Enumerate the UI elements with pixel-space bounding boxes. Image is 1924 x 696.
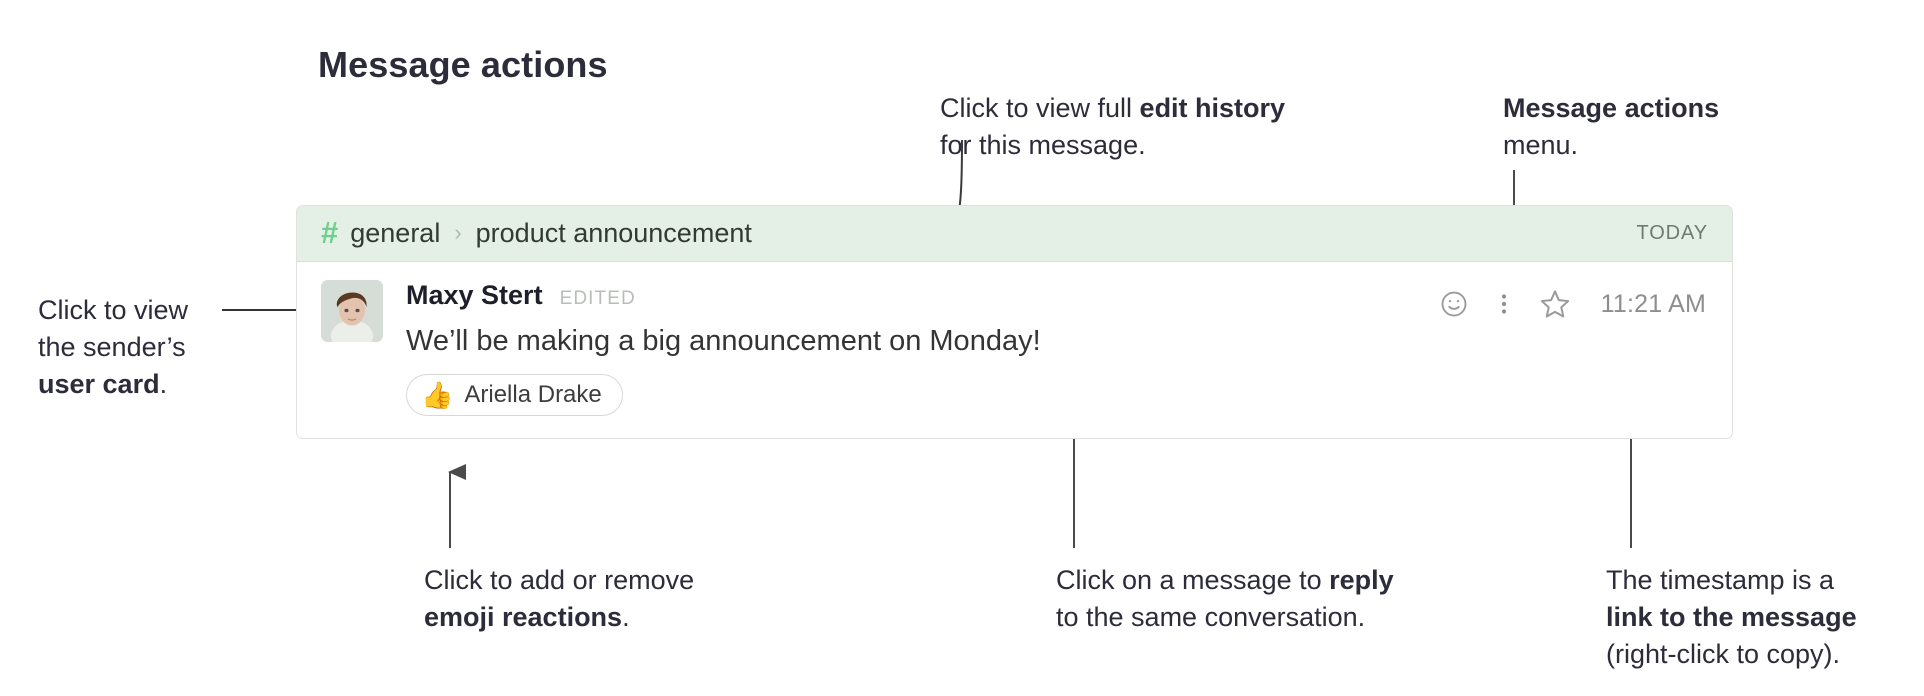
message-card: # general › product announcement TODAY M…: [296, 205, 1733, 439]
annotation-timestamp-line3: (right-click to copy).: [1606, 636, 1857, 673]
message-timestamp-link[interactable]: 11:21 AM: [1601, 290, 1706, 319]
annotation-timestamp-link: The timestamp is a link to the message (…: [1606, 562, 1857, 673]
emoji-reaction-icon[interactable]: [1439, 289, 1469, 319]
page-title: Message actions: [318, 44, 608, 86]
message-actions-icon[interactable]: [1493, 289, 1515, 319]
message-text[interactable]: We’ll be making a big announcement on Mo…: [406, 322, 1708, 360]
sender-name[interactable]: Maxy Stert: [406, 280, 543, 311]
stream-topic-header: # general › product announcement TODAY: [297, 206, 1732, 262]
chevron-right-icon: ›: [454, 220, 461, 246]
annotation-reply-line2: to the same conversation.: [1056, 599, 1394, 636]
annotation-edit-history-line2: for this message.: [940, 127, 1285, 164]
message-row[interactable]: Maxy Stert EDITED We’ll be making a big …: [297, 262, 1732, 438]
reactions-row: 👍 Ariella Drake: [406, 374, 1708, 416]
annotation-reply: Click on a message to reply to the same …: [1056, 562, 1394, 636]
date-label: TODAY: [1636, 222, 1708, 245]
annotation-actions-menu-bold: Message actions: [1503, 93, 1719, 123]
annotation-edit-history-line1-pre: Click to view full: [940, 93, 1140, 123]
annotation-emoji-line1: Click to add or remove: [424, 562, 694, 599]
thumbs-up-icon: 👍: [421, 382, 453, 408]
annotation-user-card: Click to view the sender’s user card.: [38, 292, 188, 403]
annotation-user-card-line1: Click to view: [38, 292, 188, 329]
annotation-emoji-period: .: [622, 602, 630, 632]
hash-icon: #: [321, 217, 338, 248]
annotation-actions-menu-line2: menu.: [1503, 127, 1719, 164]
annotation-user-card-bold: user card: [38, 369, 160, 399]
annotation-user-card-line2: the sender’s: [38, 329, 188, 366]
annotation-emoji-reactions: Click to add or remove emoji reactions.: [424, 562, 694, 636]
annotation-reply-bold: reply: [1329, 565, 1394, 595]
edited-label[interactable]: EDITED: [560, 288, 636, 310]
message-controls: 11:21 AM: [1439, 288, 1706, 320]
reaction-pill[interactable]: 👍 Ariella Drake: [406, 374, 623, 416]
stream-name-link[interactable]: general: [350, 218, 440, 249]
annotation-edit-history-bold: edit history: [1140, 93, 1286, 123]
annotation-emoji-bold: emoji reactions: [424, 602, 622, 632]
avatar[interactable]: [321, 280, 383, 342]
annotation-user-card-period: .: [160, 369, 168, 399]
annotation-edit-history: Click to view full edit history for this…: [940, 90, 1285, 164]
annotation-timestamp-line1: The timestamp is a: [1606, 562, 1857, 599]
annotation-reply-line1-pre: Click on a message to: [1056, 565, 1329, 595]
reaction-user-label: Ariella Drake: [464, 381, 601, 409]
topic-name-link[interactable]: product announcement: [476, 218, 752, 249]
star-icon[interactable]: [1539, 288, 1571, 320]
avatar-image: [321, 280, 383, 342]
annotation-timestamp-bold: link to the message: [1606, 602, 1857, 632]
annotation-actions-menu: Message actions menu.: [1503, 90, 1719, 164]
